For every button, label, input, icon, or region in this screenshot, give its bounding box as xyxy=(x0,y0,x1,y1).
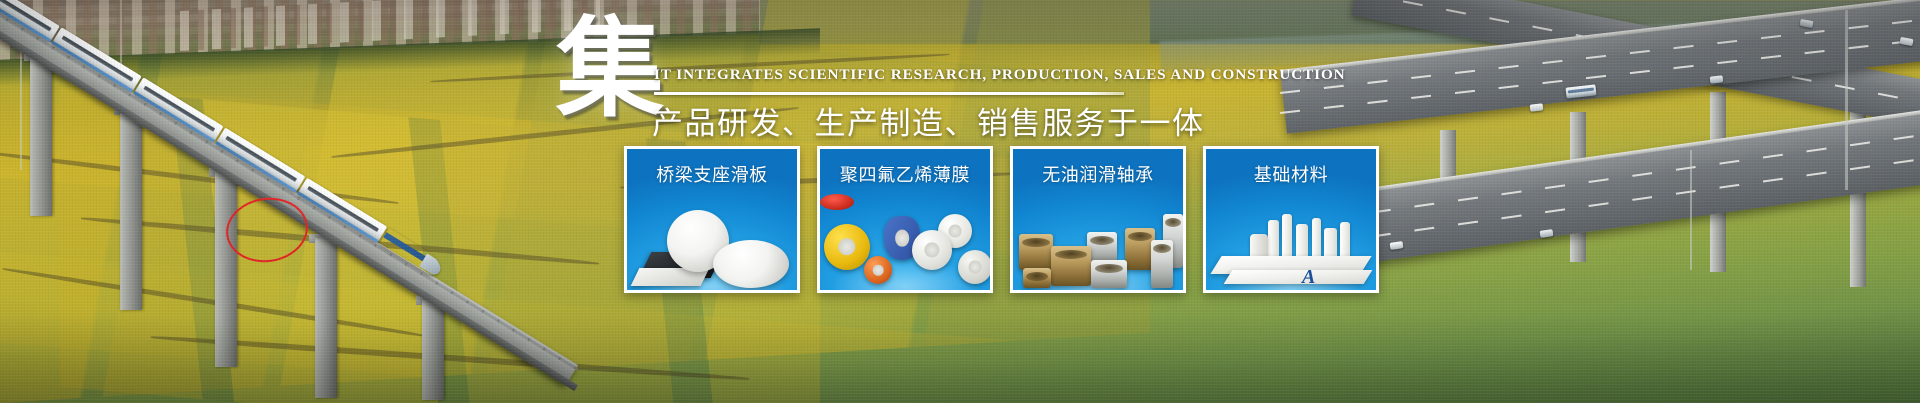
bearing-bushing xyxy=(1019,234,1053,270)
viaduct-pier xyxy=(315,238,337,398)
headline-divider xyxy=(654,92,1124,95)
product-card-base-materials[interactable]: 基础材料 A xyxy=(1203,146,1379,293)
viaduct-pier xyxy=(120,110,142,310)
product-card-title: 基础材料 xyxy=(1206,161,1376,187)
hero-banner: 集 IT INTEGRATES SCIENTIFIC RESEARCH, PRO… xyxy=(0,0,1920,403)
car-vehicle xyxy=(1530,103,1544,111)
viaduct-pier xyxy=(30,56,52,216)
product-card-oil-free-bearing[interactable]: 无油润滑轴承 xyxy=(1010,146,1186,293)
tape-roll-yellow xyxy=(824,224,870,270)
material-rod xyxy=(1282,214,1292,262)
product-card-title: 无油润滑轴承 xyxy=(1013,161,1183,187)
bearing-bushing-steel xyxy=(1151,240,1173,288)
oil-free-bearings-icon xyxy=(1013,194,1183,290)
viaduct-pier xyxy=(422,300,444,400)
seal-ring-red xyxy=(820,194,854,210)
bearing-bushing xyxy=(1051,246,1091,286)
tape-roll-grey xyxy=(958,250,992,284)
base-materials-icon: A xyxy=(1206,194,1376,290)
material-sheet xyxy=(1224,270,1373,284)
headline-chinese-character: 集 xyxy=(556,16,664,124)
tape-roll-white xyxy=(912,230,952,270)
ptfe-film-rolls-icon xyxy=(820,194,990,290)
product-card-list: 桥梁支座滑板 聚四氟乙烯薄膜 无油润滑轴承 xyxy=(624,146,1379,293)
bearing-bushing xyxy=(1023,268,1051,288)
product-card-ptfe-film[interactable]: 聚四氟乙烯薄膜 xyxy=(817,146,993,293)
product-card-bridge-bearing-slide-plate[interactable]: 桥梁支座滑板 xyxy=(624,146,800,293)
bearing-bushing-steel xyxy=(1091,260,1127,288)
tape-roll-orange xyxy=(864,256,892,284)
chinese-slogan: 产品研发、生产制造、销售服务于一体 xyxy=(652,98,1205,143)
material-logo-mark: A xyxy=(1302,266,1315,289)
utility-pole xyxy=(1690,150,1692,270)
headline-text-block: 集 IT INTEGRATES SCIENTIFIC RESEARCH, PRO… xyxy=(556,18,1166,130)
slide-disc xyxy=(713,240,789,288)
bearing-bushing-steel xyxy=(1087,232,1117,262)
product-card-title: 桥梁支座滑板 xyxy=(627,161,797,187)
viaduct-pier xyxy=(215,172,237,367)
english-tagline: IT INTEGRATES SCIENTIFIC RESEARCH, PRODU… xyxy=(654,66,1346,84)
car-vehicle xyxy=(1710,75,1724,83)
product-card-title: 聚四氟乙烯薄膜 xyxy=(820,161,990,187)
bridge-bearing-slide-plate-icon xyxy=(627,194,797,290)
utility-pole xyxy=(1845,10,1848,190)
